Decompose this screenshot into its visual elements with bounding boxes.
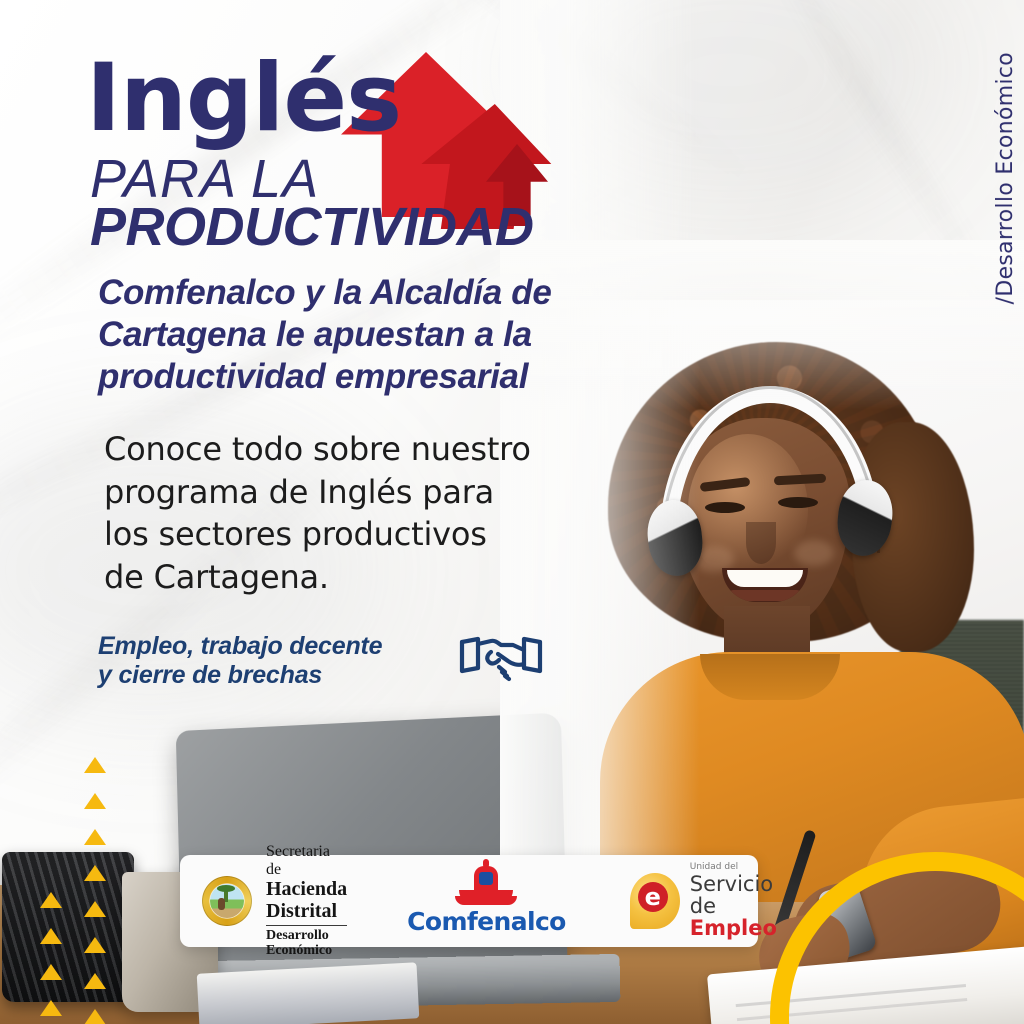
triangle-decor xyxy=(84,937,106,953)
poster-canvas: Inglés PARA LA PRODUCTIVIDAD /Desarrollo… xyxy=(0,0,1024,1024)
partner-logo-bar: Secretaria de Hacienda Distrital Desarro… xyxy=(180,855,758,947)
body-line: programa de Inglés para xyxy=(104,471,584,514)
secretaria-divider xyxy=(266,925,347,926)
tagline: Empleo, trabajo decente y cierre de brec… xyxy=(98,632,498,690)
comfenalco-logo: Comfenalco xyxy=(407,855,566,947)
triangle-decor xyxy=(84,1009,106,1024)
body-line: los sectores productivos xyxy=(104,513,584,556)
triangle-decor xyxy=(84,829,106,845)
triangle-decor xyxy=(40,1000,62,1016)
handshake-icon xyxy=(458,628,544,688)
program-logo: Inglés PARA LA PRODUCTIVIDAD xyxy=(86,52,556,242)
triangle-decor xyxy=(40,892,62,908)
cartagena-seal-icon xyxy=(202,876,252,926)
woman-with-headphones xyxy=(560,330,1024,890)
servicio-empleo-logo: e Unidad del Servicio de Empleo xyxy=(626,855,777,947)
headline: Comfenalco y la Alcaldía de Cartagena le… xyxy=(98,272,618,398)
comfenalco-wordmark: Comfenalco xyxy=(407,907,566,936)
empleo-line2-prefix: de xyxy=(690,894,716,918)
secretaria-logo: Secretaria de Hacienda Distrital Desarro… xyxy=(180,855,347,947)
empleo-e-letter: e xyxy=(638,882,668,912)
empleo-pin-icon: e xyxy=(630,873,680,929)
triangle-decor xyxy=(84,757,106,773)
triangle-decor xyxy=(84,973,106,989)
triangle-decor xyxy=(84,793,106,809)
body-line: Conoce todo sobre nuestro xyxy=(104,428,584,471)
body-line: de Cartagena. xyxy=(104,556,584,599)
empleo-line1: Servicio xyxy=(690,873,777,895)
logo-line-productividad: PRODUCTIVIDAD xyxy=(90,200,534,254)
triangle-decor xyxy=(84,901,106,917)
body-copy: Conoce todo sobre nuestro programa de In… xyxy=(104,428,584,598)
tagline-line: Empleo, trabajo decente xyxy=(98,632,498,661)
comfenalco-tower-icon xyxy=(455,866,517,906)
triangle-decor xyxy=(40,928,62,944)
triangle-decor xyxy=(84,865,106,881)
empleo-line2-accent: Empleo xyxy=(690,916,777,940)
stacked-papers xyxy=(197,962,420,1024)
vertical-department-label: /Desarrollo Económico xyxy=(993,52,1018,304)
secretaria-line1: Secretaria de xyxy=(266,843,347,878)
logo-line-ingles: Inglés xyxy=(86,56,401,142)
secretaria-line2: Hacienda Distrital xyxy=(266,878,347,922)
mesh-pen-cup xyxy=(2,852,134,1002)
secretaria-line3: Desarrollo Económico xyxy=(266,928,347,959)
triangle-decor xyxy=(40,964,62,980)
tagline-line: y cierre de brechas xyxy=(98,661,498,690)
empleo-line2: de Empleo xyxy=(690,895,777,939)
